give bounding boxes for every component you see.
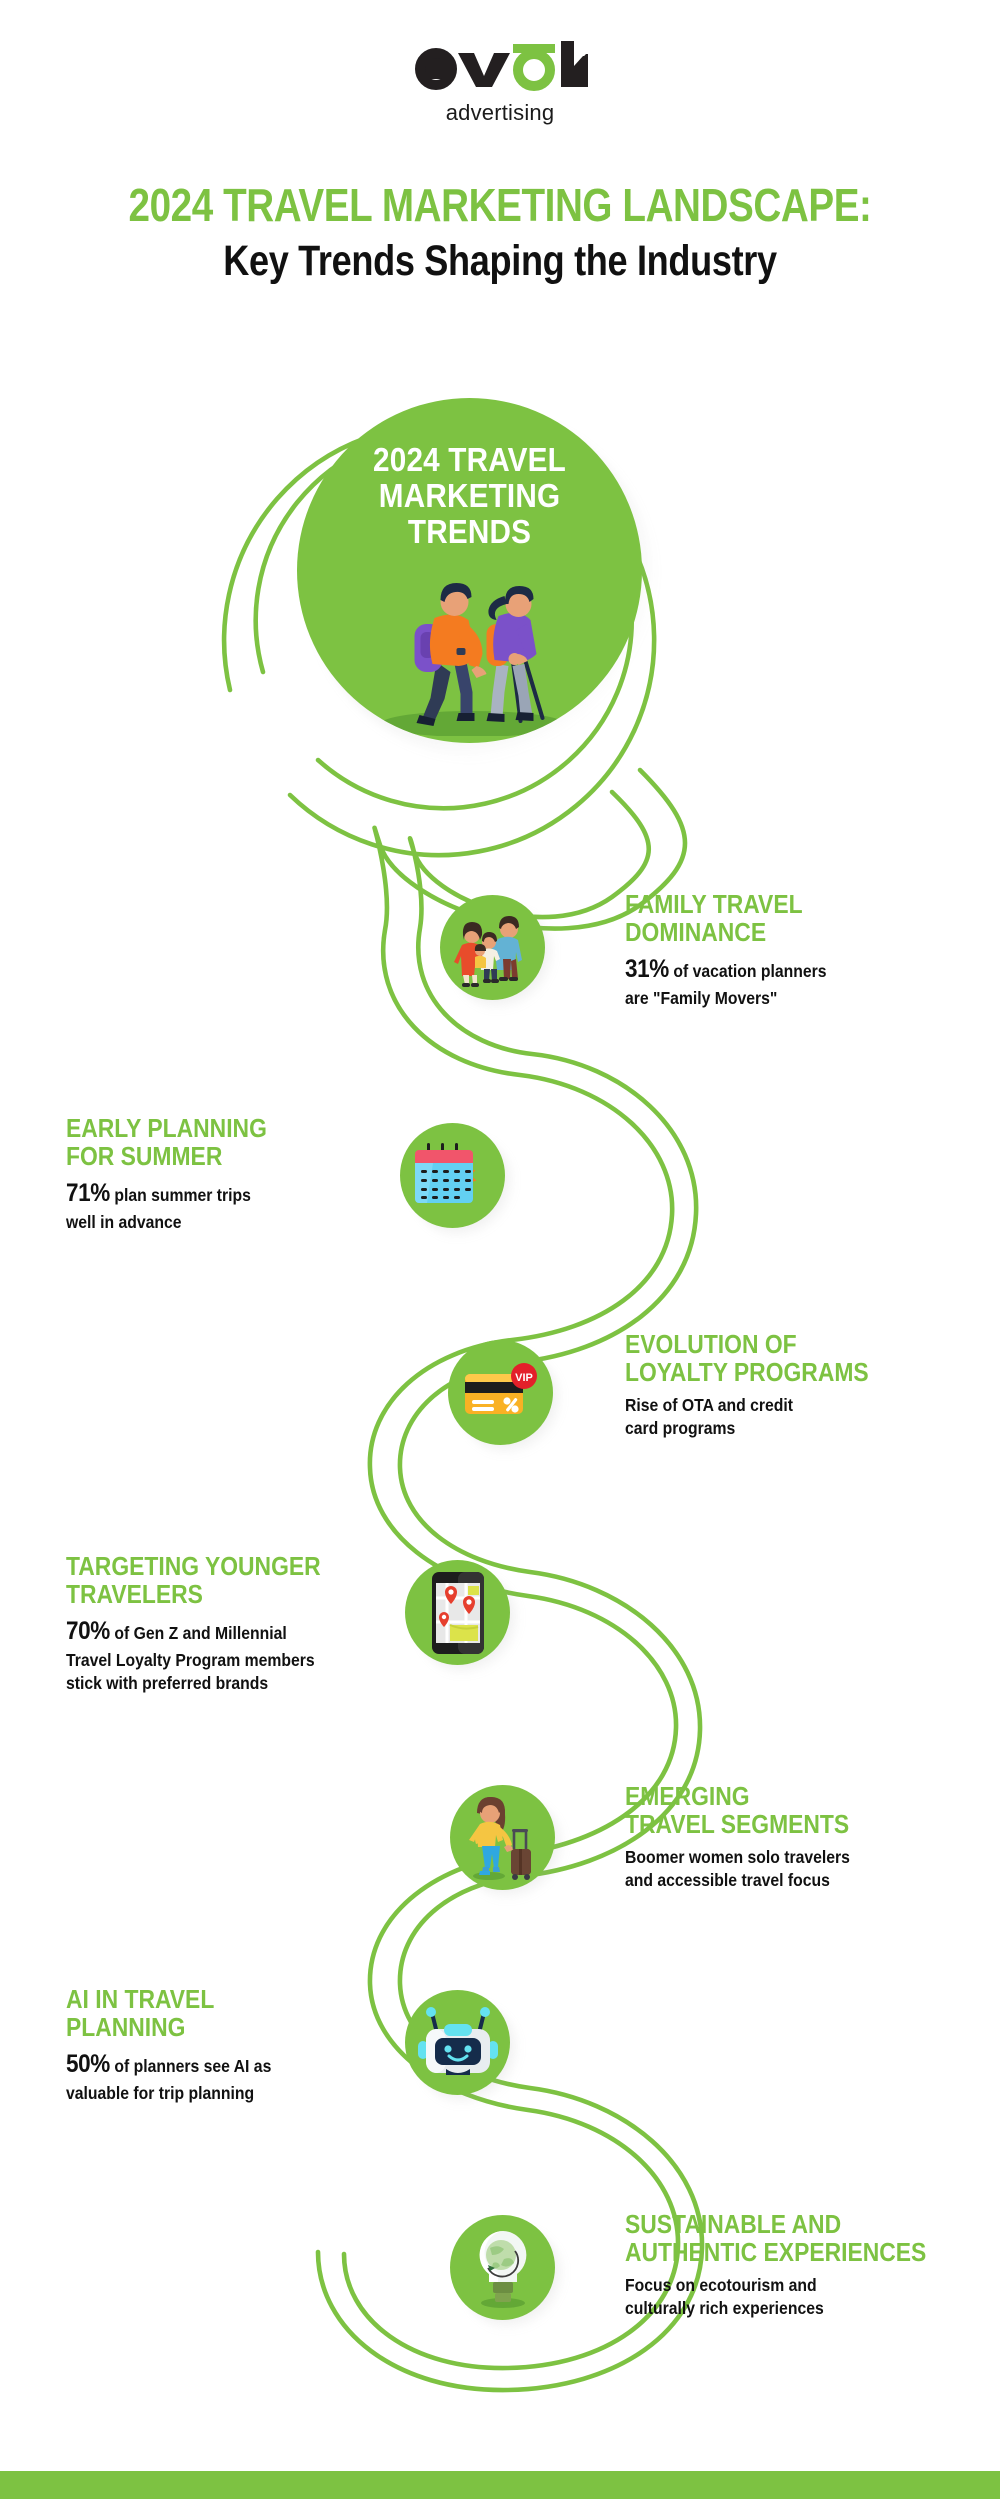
trend-6-text: AI IN TRAVEL PLANNING 50% of planners se… <box>66 1985 406 2104</box>
trend-7-title-line1: SUSTAINABLE AND <box>625 2210 959 2238</box>
trend-6-desc-line2: valuable for trip planning <box>66 2082 372 2104</box>
trend-2-text: EARLY PLANNING FOR SUMMER 71% plan summe… <box>66 1114 396 1233</box>
trend-2-desc-line2: well in advance <box>66 1211 363 1233</box>
svg-text:VIP: VIP <box>515 1372 533 1384</box>
infographic-canvas: advertising 2024 TRAVEL MARKETING LANDSC… <box>0 0 1000 2499</box>
hero-circle: 2024 TRAVEL MARKETING TRENDS <box>297 398 642 743</box>
trend-7-desc-line2: culturally rich experiences <box>625 2297 967 2319</box>
lightbulb-globe-icon <box>450 2215 555 2320</box>
page-title-line1: 2024 TRAVEL MARKETING LANDSCAPE: <box>80 182 920 229</box>
trend-6-title-line1: AI IN TRAVEL <box>66 1985 365 2013</box>
trend-4-title-line1: TARGETING YOUNGER <box>66 1552 383 1580</box>
trend-6-icon-badge <box>405 1990 510 2095</box>
logo-tagline: advertising <box>446 100 555 126</box>
trend-4-title-line2: TRAVELERS <box>66 1580 383 1608</box>
trend-1-desc-line2: are "Family Movers" <box>625 987 958 1009</box>
trend-7-desc-line1: Focus on ecotourism and <box>625 2274 967 2296</box>
trend-1-stat: 31% <box>625 955 669 983</box>
trend-1-desc-line1: 31% of vacation planners <box>625 954 958 986</box>
page-title: 2024 TRAVEL MARKETING LANDSCAPE: Key Tre… <box>0 182 1000 285</box>
trend-3-title-line1: EVOLUTION OF <box>625 1330 959 1358</box>
vip-credit-card-icon: VIP <box>448 1340 553 1445</box>
hero-title-line2: MARKETING <box>314 478 625 514</box>
trend-4-desc-line3: stick with preferred brands <box>66 1672 390 1694</box>
robot-head-icon <box>405 1990 510 2095</box>
trend-5-title-line1: EMERGING <box>625 1782 959 1810</box>
trend-7-icon-badge <box>450 2215 555 2320</box>
trend-3-icon-badge: VIP <box>448 1340 553 1445</box>
trend-2-icon-badge <box>400 1123 505 1228</box>
trend-4-desc-line1: 70% of Gen Z and Millennial <box>66 1616 390 1648</box>
trend-5-icon-badge <box>450 1785 555 1890</box>
trend-1-title-line2: DOMINANCE <box>625 918 951 946</box>
trend-1-title-line1: FAMILY TRAVEL <box>625 890 951 918</box>
serpentine-connector-path <box>0 0 1000 2499</box>
trend-5-title-line2: TRAVEL SEGMENTS <box>625 1810 959 1838</box>
trend-3-title-line2: LOYALTY PROGRAMS <box>625 1358 959 1386</box>
hero-title: 2024 TRAVEL MARKETING TRENDS <box>314 442 625 550</box>
hero-title-line3: TRENDS <box>314 514 625 550</box>
trend-7-text: SUSTAINABLE AND AUTHENTIC EXPERIENCES Fo… <box>625 2210 1000 2319</box>
trend-6-stat: 50% <box>66 2050 110 2078</box>
two-hikers-illustration <box>362 566 577 741</box>
trend-5-text: EMERGING TRAVEL SEGMENTS Boomer women so… <box>625 1782 1000 1891</box>
family-group-icon <box>440 895 545 1000</box>
trend-1-icon-badge <box>440 895 545 1000</box>
woman-with-luggage-icon <box>450 1785 555 1890</box>
trend-1-text: FAMILY TRAVEL DOMINANCE 31% of vacation … <box>625 890 995 1009</box>
evok-wordmark-icon <box>412 38 588 99</box>
trend-4-stat: 70% <box>66 1617 110 1645</box>
trend-6-title-line2: PLANNING <box>66 2013 365 2041</box>
trend-6-desc-line1: 50% of planners see AI as <box>66 2049 372 2081</box>
hero-title-line1: 2024 TRAVEL <box>314 442 625 478</box>
trend-7-title-line2: AUTHENTIC EXPERIENCES <box>625 2238 959 2266</box>
page-title-line2: Key Trends Shaping the Industry <box>80 239 920 284</box>
trend-4-desc-line2: Travel Loyalty Program members <box>66 1649 390 1671</box>
trend-3-desc-line1: Rise of OTA and credit <box>625 1394 967 1416</box>
footer-accent-bar <box>0 2471 1000 2499</box>
trend-5-desc-line2: and accessible travel focus <box>625 1869 967 1891</box>
calendar-sun-icon <box>400 1123 505 1228</box>
trend-2-stat: 71% <box>66 1179 110 1207</box>
trend-3-text: EVOLUTION OF LOYALTY PROGRAMS Rise of OT… <box>625 1330 1000 1439</box>
trend-3-desc-line2: card programs <box>625 1417 967 1439</box>
trend-2-title-line2: FOR SUMMER <box>66 1142 356 1170</box>
hero-badge: 2024 TRAVEL MARKETING TRENDS <box>297 398 642 743</box>
trend-4-text: TARGETING YOUNGER TRAVELERS 70% of Gen Z… <box>66 1552 426 1694</box>
trend-2-title-line1: EARLY PLANNING <box>66 1114 356 1142</box>
trend-5-desc-line1: Boomer women solo travelers <box>625 1846 967 1868</box>
trend-2-desc-line1: 71% plan summer trips <box>66 1178 363 1210</box>
brand-logo: advertising <box>0 38 1000 126</box>
